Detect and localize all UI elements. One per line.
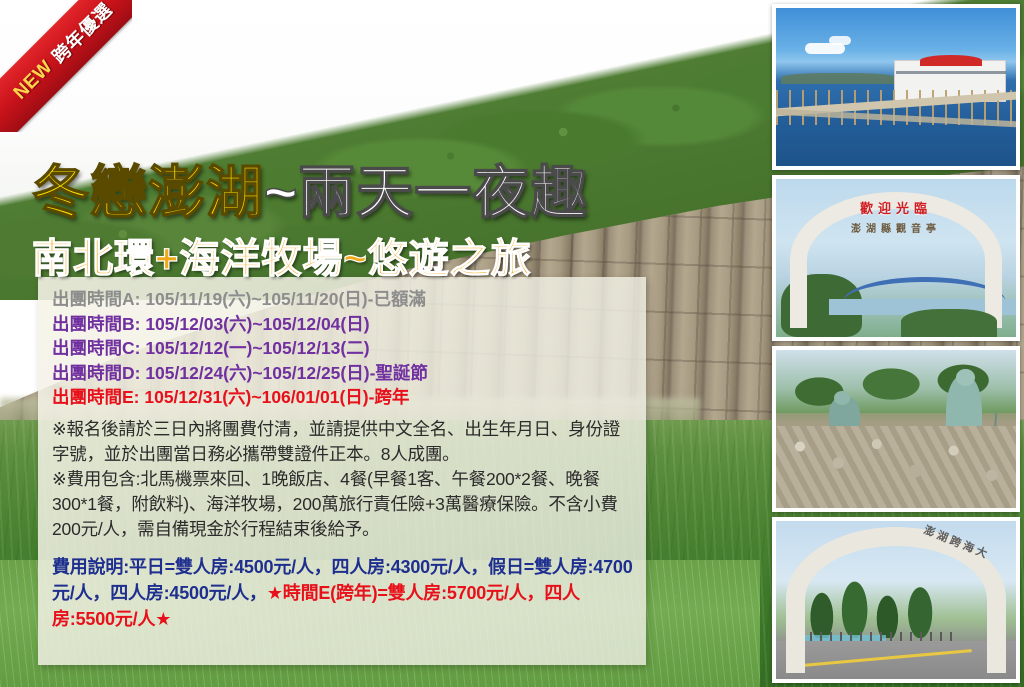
arch-top-text: 歡迎光臨 (860, 198, 932, 217)
spacer (52, 410, 634, 417)
title-highlight: 冬戀澎湖 (32, 161, 264, 225)
photo-sea-farm-image (776, 8, 1016, 166)
departure-row-a: 出團時間A: 105/11/19(六)~105/11/20(日)-已額滿 (52, 287, 634, 312)
title-rest: ~兩天一夜趣 (264, 161, 588, 225)
deck-line (896, 71, 1006, 74)
photo-gallery: 歡迎光臨 澎湖縣觀音亭 (772, 4, 1020, 684)
photo-great-bridge-image: 澎湖跨海大 (776, 521, 1016, 679)
ribbon-banner: NEW 跨年優選 (0, 0, 132, 132)
booking-notes: ※報名後請於三日內將團費付清，並請提供中文全名、出生年月日、身份證字號，並於出團… (52, 417, 634, 467)
info-panel: 出團時間A: 105/11/19(六)~105/11/20(日)-已額滿 出團時… (38, 277, 646, 665)
spacer-2 (52, 542, 634, 554)
photo-welcome-arch-image: 歡迎光臨 澎湖縣觀音亭 (776, 179, 1016, 337)
foreground-tree-2 (901, 309, 997, 337)
departure-row-d: 出團時間D: 105/12/24(六)~105/12/25(日)-聖誕節 (52, 361, 634, 386)
travel-promo-poster: NEW 跨年優選 冬戀澎湖~兩天一夜趣 南北環+海洋牧場~悠遊之旅 出團時間A:… (0, 0, 1024, 687)
photo-great-bridge-arch[interactable]: 澎湖跨海大 (772, 517, 1020, 683)
pricing-block: 費用說明:平日=雙人房:4500元/人，四人房:4300元/人，假日=雙人房:4… (52, 554, 634, 632)
ribbon-new-label: NEW (10, 56, 58, 104)
coral-stone-wall (776, 426, 1016, 508)
corner-ribbon: NEW 跨年優選 (0, 0, 132, 132)
page-subtitle: 南北環+海洋牧場~悠遊之旅 (32, 226, 532, 284)
photo-sea-farm[interactable] (772, 4, 1020, 170)
photo-coral-wall-image (776, 350, 1016, 508)
photo-welcome-arch[interactable]: 歡迎光臨 澎湖縣觀音亭 (772, 175, 1020, 341)
departure-row-c: 出團時間C: 105/12/12(一)~105/12/13(二) (52, 336, 634, 361)
page-title: 冬戀澎湖~兩天一夜趣 (32, 163, 588, 223)
arch-sub-text: 澎湖縣觀音亭 (851, 220, 941, 235)
distant-island (781, 73, 896, 84)
cloud-shape-2 (829, 36, 851, 45)
photo-coral-wall-statues[interactable] (772, 346, 1020, 512)
red-roof (920, 55, 982, 66)
departure-row-b: 出團時間B: 105/12/03(六)~105/12/04(日) (52, 312, 634, 337)
departure-row-e: 出團時間E: 105/12/31(六)~106/01/01(日)-跨年 (52, 385, 634, 410)
ribbon-promo-label: 跨年優選 (46, 0, 118, 68)
inclusion-notes: ※費用包含:北馬機票來回、1晚飯店、4餐(早餐1客、午餐200*2餐、晚餐300… (52, 467, 634, 542)
